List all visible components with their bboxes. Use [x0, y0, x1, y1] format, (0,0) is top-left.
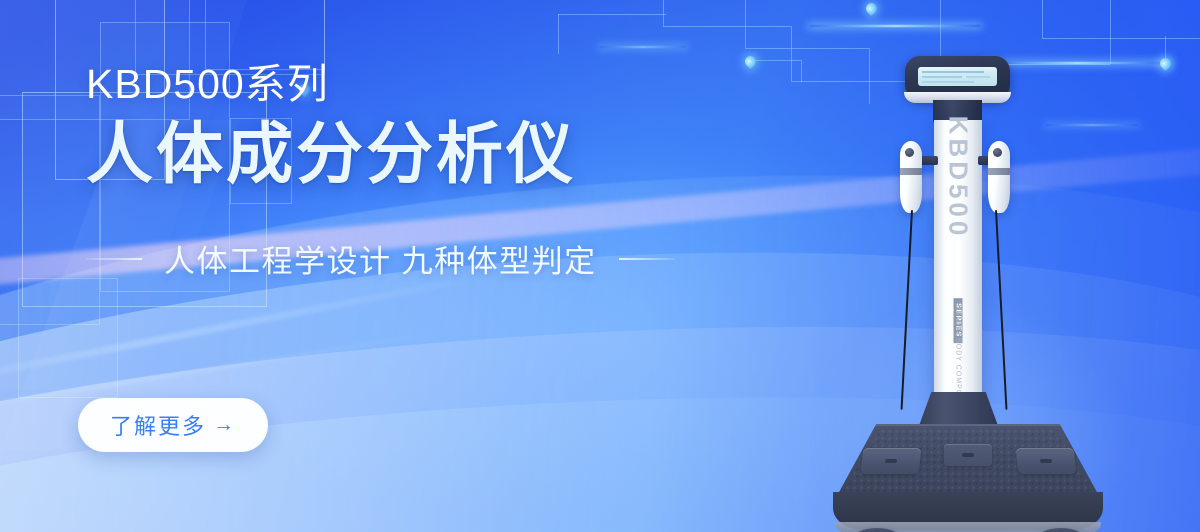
electrode-band-right: [988, 168, 1010, 175]
hero-copy: KBD500系列 人体成分分析仪 人体工程学设计 九种体型判定: [86, 62, 706, 281]
device-foot-pad-right: [1016, 448, 1077, 474]
subtitle-text: 人体工程学设计 九种体型判定: [164, 236, 597, 281]
electrode-band-left: [900, 168, 922, 175]
device-brand-label: KBD500: [943, 116, 974, 240]
subtitle-row: 人体工程学设计 九种体型判定: [86, 236, 706, 281]
page-title: 人体成分分析仪: [86, 117, 706, 192]
device-column: KBD500 SERIES HUMAN BODY COMPOSITION ANA…: [934, 120, 982, 420]
eyebrow-text: KBD500系列: [86, 62, 706, 107]
dash-right-icon: [619, 258, 675, 260]
learn-more-button[interactable]: 了解更多 →: [78, 398, 268, 452]
device-hand-electrode-right[interactable]: [988, 141, 1010, 213]
electrode-button-left: [905, 148, 914, 157]
electrode-button-right: [993, 148, 1002, 157]
device-screen: [918, 67, 997, 86]
dash-left-icon: [86, 258, 142, 260]
arrow-right-icon: →: [213, 413, 236, 437]
device-foot-pad-center: [944, 444, 992, 466]
product-hero-banner: KBD500系列 人体成分分析仪 人体工程学设计 九种体型判定 了解更多 →: [0, 0, 1200, 532]
device-foot-pad-left: [861, 448, 922, 474]
learn-more-label: 了解更多: [110, 409, 206, 441]
device-hand-electrode-left[interactable]: [900, 141, 922, 213]
product-image-body-composition-analyzer: KBD500 SERIES HUMAN BODY COMPOSITION ANA…: [805, 40, 1135, 520]
